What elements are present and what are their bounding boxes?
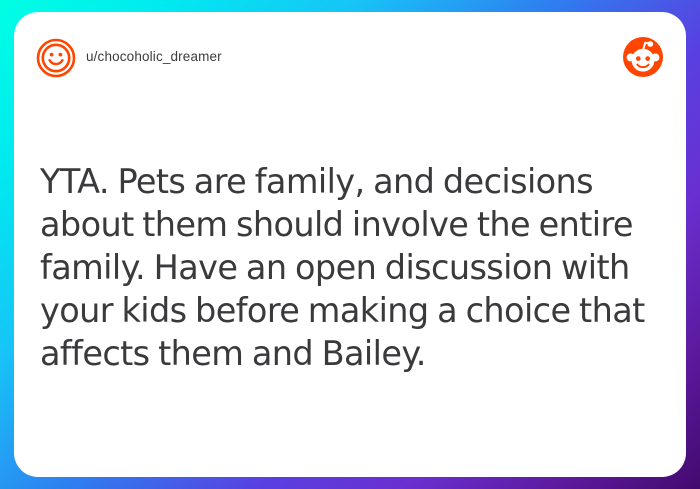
reddit-post-card: u/chocoholic_dreamer YTA. Pets are famil… bbox=[14, 12, 686, 477]
screenshot-root: u/chocoholic_dreamer YTA. Pets are famil… bbox=[0, 0, 700, 489]
post-body-text: YTA. Pets are family, and decisions abou… bbox=[40, 160, 660, 375]
avatar[interactable] bbox=[36, 38, 76, 78]
post-header: u/chocoholic_dreamer bbox=[14, 12, 686, 104]
reddit-snoo-icon bbox=[622, 36, 664, 78]
username-label: u/chocoholic_dreamer bbox=[86, 49, 222, 64]
smiley-face-avatar-icon bbox=[36, 38, 76, 78]
reddit-logo[interactable] bbox=[622, 36, 664, 78]
